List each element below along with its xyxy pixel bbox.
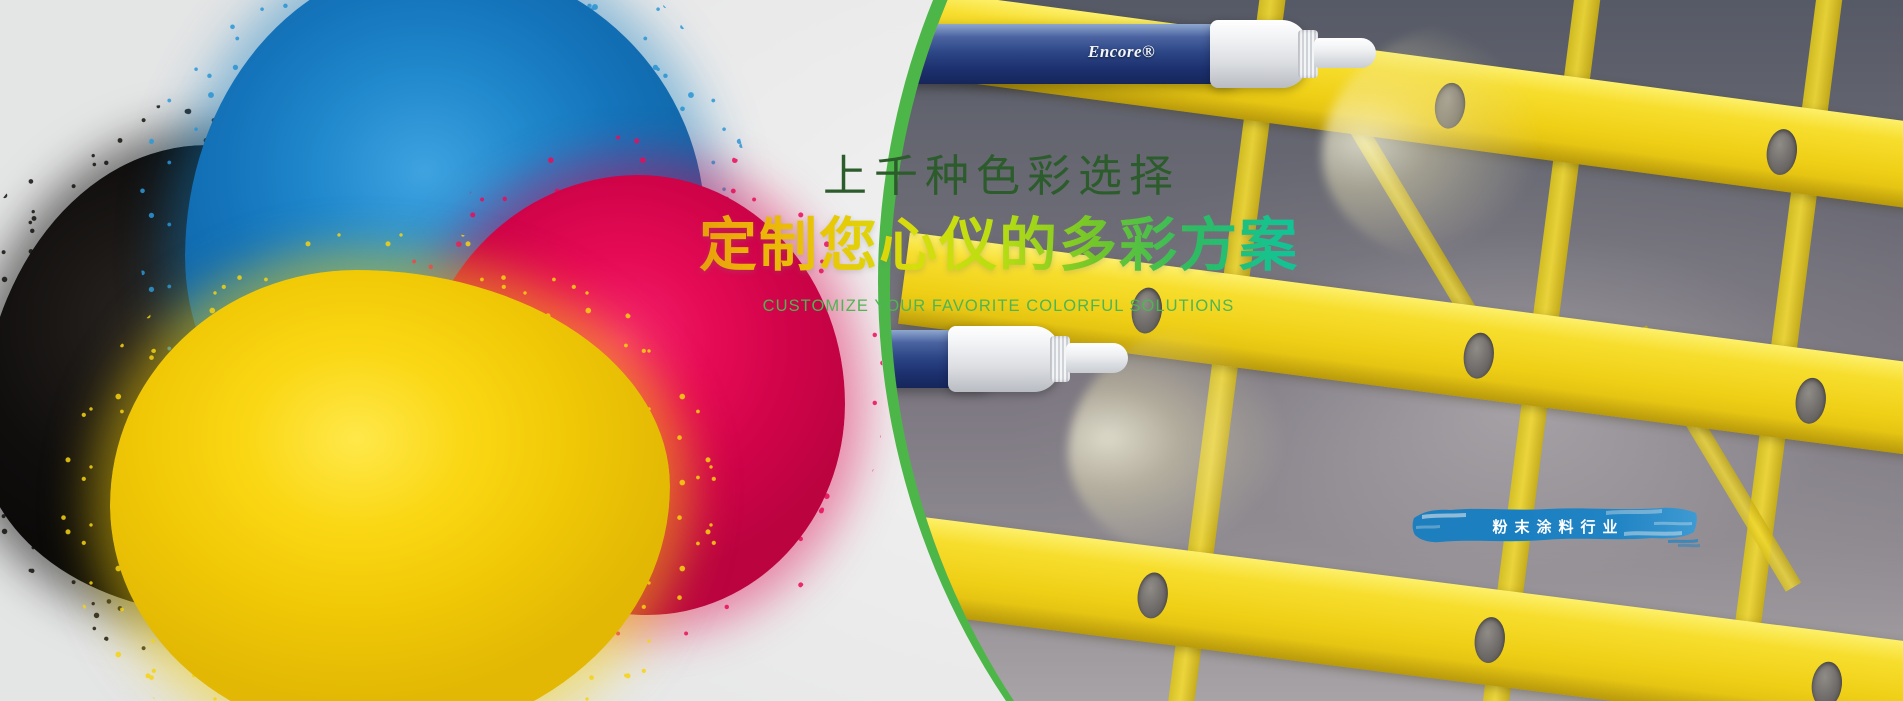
powder-pile-group <box>0 0 720 701</box>
spray-gun-barrel <box>890 24 1238 84</box>
headline-secondary: 定制您心仪的多彩方案 <box>648 212 1348 280</box>
industry-badge-label: 粉末涂料行业 <box>1485 516 1624 537</box>
spray-gun-nozzle <box>1066 343 1128 373</box>
hero-banner: Encore® 上千种色彩选择 定制您心仪的多彩方案 CUSTOMIZE YOU… <box>0 0 1903 701</box>
headline-primary: 上千种色彩选择 <box>648 150 1348 204</box>
beam-hole <box>1764 127 1800 177</box>
photo-panel-clip: Encore® <box>890 0 1903 701</box>
beam-hole <box>1135 571 1171 620</box>
beam-hole <box>1793 376 1829 425</box>
powder-coating-photo: Encore® <box>890 0 1903 701</box>
spray-gun-nozzle <box>1314 38 1376 68</box>
hero-copy: 上千种色彩选择 定制您心仪的多彩方案 CUSTOMIZE YOUR FAVORI… <box>648 150 1348 318</box>
beam-hole <box>1809 660 1845 701</box>
beam-hole <box>1461 331 1497 380</box>
spray-gun-collar <box>1210 20 1308 88</box>
powder-pile-yellow <box>110 270 670 701</box>
beam-hole <box>1472 615 1508 664</box>
spray-gun-collar <box>948 326 1060 392</box>
subline-english: CUSTOMIZE YOUR FAVORITE COLORFUL SOLUTIO… <box>648 296 1348 317</box>
industry-badge[interactable]: 粉末涂料行业 <box>1410 502 1700 550</box>
